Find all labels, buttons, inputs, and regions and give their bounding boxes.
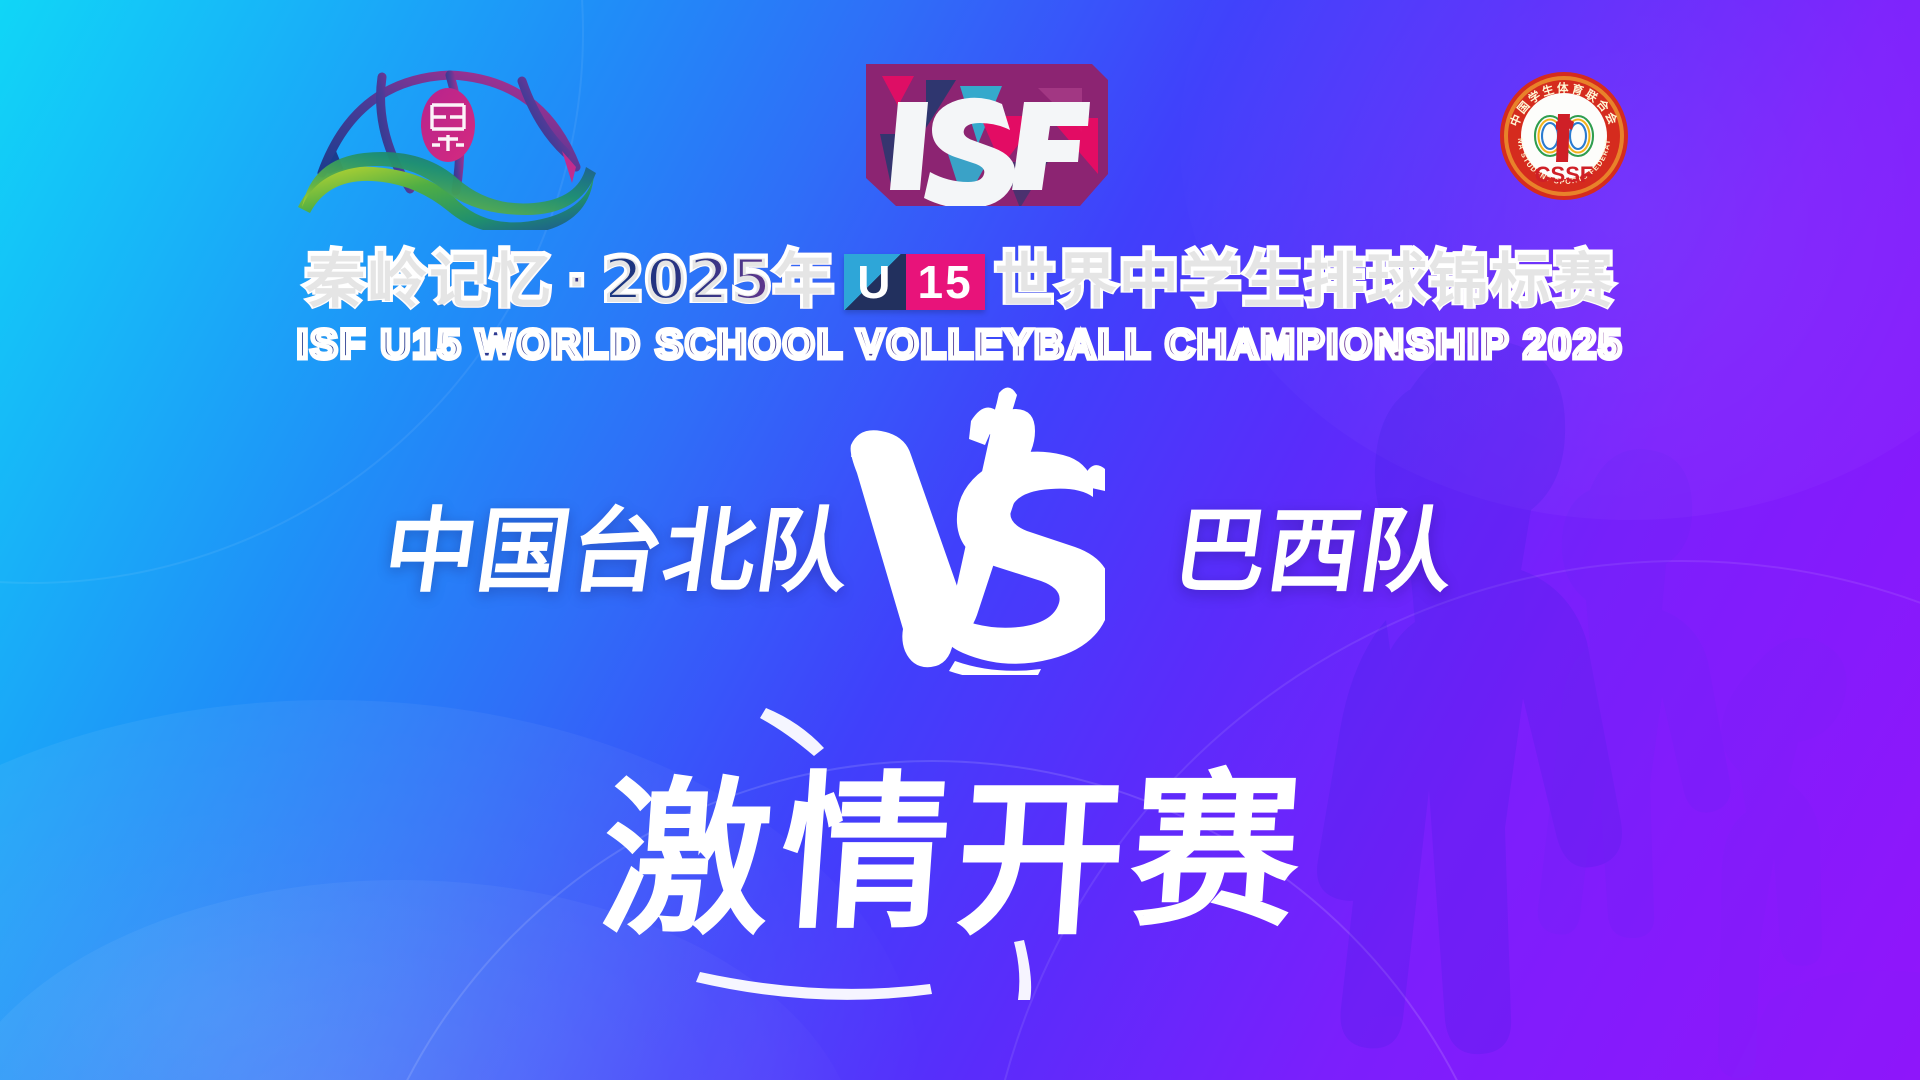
event-title-chinese: 秦岭记忆 · 2025年 U 15 世界中学生排球锦标赛	[0, 250, 1920, 310]
u15-number: 15	[906, 254, 985, 310]
logo-row: 中国学生体育联合会 CHINA STUDENT SPORTS FEDERATIO…	[0, 0, 1920, 250]
slogan-char-1: 激	[596, 762, 778, 958]
team-right-name: 巴西队	[1169, 506, 1461, 598]
cssf-abbr: CSSF	[1535, 162, 1594, 187]
u15-badge: U 15	[844, 254, 984, 310]
title-block: 秦岭记忆 · 2025年 U 15 世界中学生排球锦标赛 ISF U15 WOR…	[0, 250, 1920, 365]
cssf-logo-icon: 中国学生体育联合会 CHINA STUDENT SPORTS FEDERATIO…	[1498, 70, 1630, 202]
title-part-a: 秦岭记忆	[305, 250, 553, 310]
match-announcement-poster: 中国学生体育联合会 CHINA STUDENT SPORTS FEDERATIO…	[0, 0, 1920, 1080]
slogan-char-4: 赛	[1125, 754, 1307, 950]
event-emblem-icon	[290, 55, 600, 230]
title-part-b: 世界中学生排球锦标赛	[995, 250, 1615, 310]
isf-logo-icon	[852, 58, 1114, 213]
event-title-english: ISF U15 WORLD SCHOOL VOLLEYBALL CHAMPION…	[0, 324, 1920, 365]
match-row: 中国台北队 巴西队	[0, 420, 1920, 720]
slogan-calligraphy: 激 情 开 赛	[580, 700, 1340, 1000]
slogan-block: 激 情 开 赛 激情开赛	[0, 700, 1920, 1000]
title-separator: ·	[553, 255, 602, 305]
title-year: 2025年	[602, 250, 834, 310]
slogan-char-2: 情	[774, 756, 956, 952]
team-left-name: 中国台北队	[379, 506, 857, 598]
slogan-char-3: 开	[950, 762, 1132, 958]
versus-icon	[835, 385, 1105, 675]
u15-letter: U	[844, 254, 905, 310]
